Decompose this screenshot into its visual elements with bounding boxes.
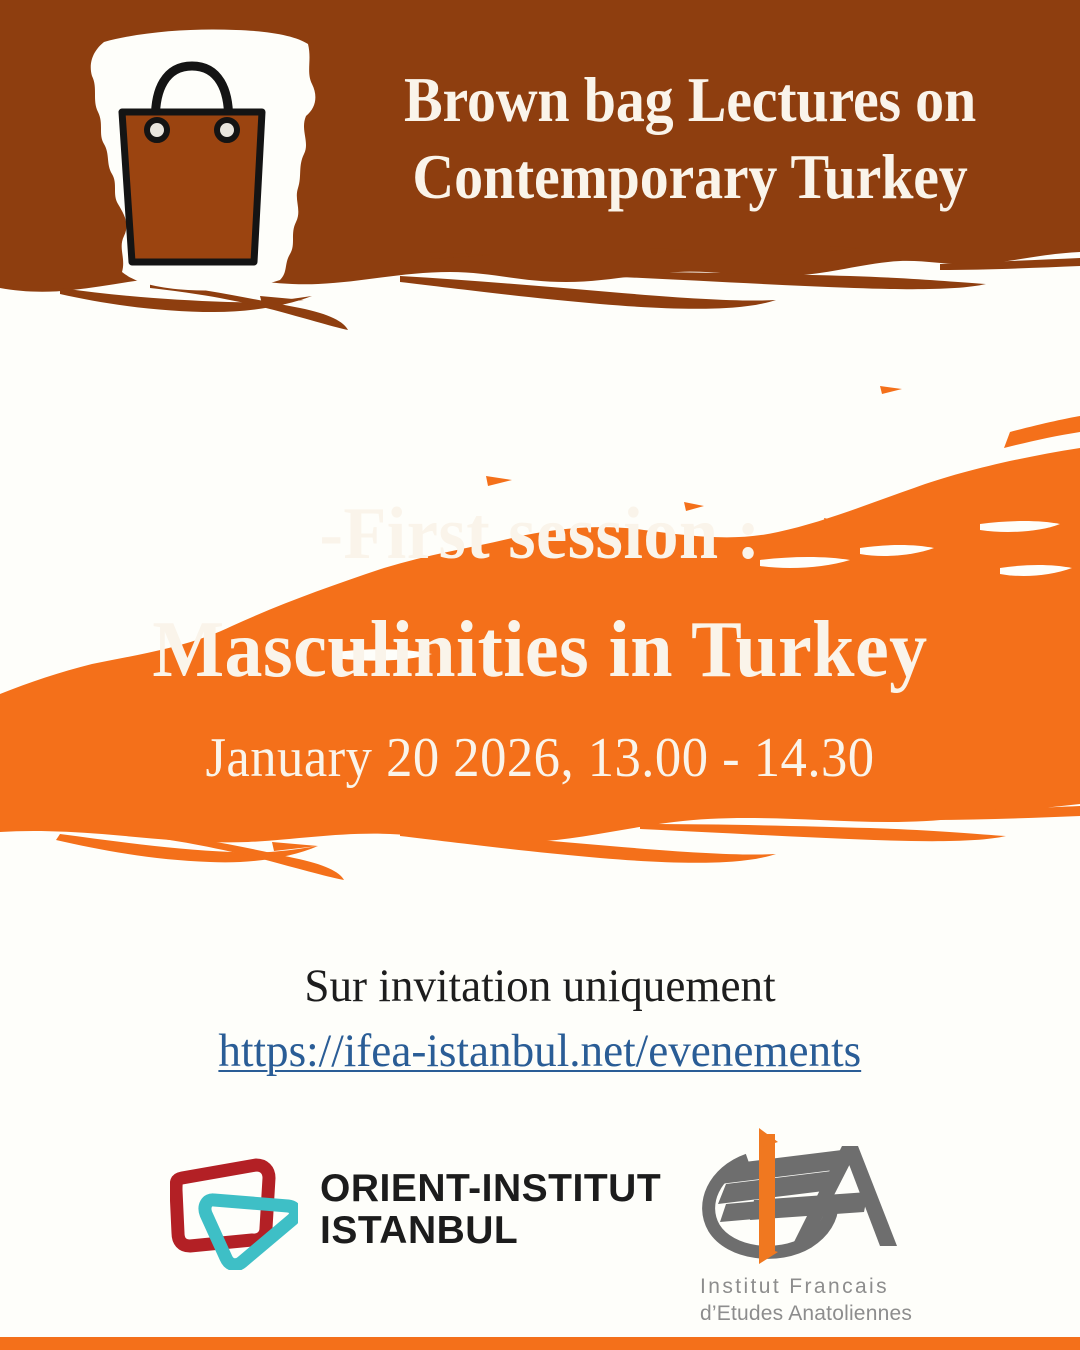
session-subject: Masculinities in Turkey [27, 602, 1053, 698]
session-heading: -First session : [27, 492, 1053, 576]
orient-institut-wordmark: ORIENT-INSTITUT ISTANBUL [320, 1168, 661, 1252]
bag-body [122, 112, 262, 262]
invitation-block: Sur invitation uniquement https://ifea-i… [0, 958, 1080, 1081]
session-datetime: January 20 2026, 13.00 - 14.30 [32, 726, 1047, 790]
orange-drip-tr1 [1004, 416, 1080, 448]
footer-accent-bar [0, 1337, 1080, 1350]
orange-speck-t2 [486, 476, 512, 486]
orient-institut-logo: ORIENT-INSTITUT ISTANBUL [170, 1150, 661, 1270]
logos-row: ORIENT-INSTITUT ISTANBUL [0, 1118, 1080, 1318]
orient-institut-mark-icon [170, 1150, 298, 1270]
ifea-caption-line-1: Institut Francais [700, 1273, 922, 1300]
invitation-note: Sur invitation uniquement [22, 958, 1059, 1015]
page-title: Brown bag Lectures on Contemporary Turke… [368, 62, 1012, 216]
orange-speck-t1 [880, 386, 902, 394]
ifea-logo: Institut Francais d’Etudes Anatoliennes [692, 1126, 922, 1328]
bag-eyelet-right [217, 120, 237, 140]
brown-paper-bag-icon [40, 24, 340, 314]
session-block: -First session : Masculinities in Turkey… [0, 492, 1080, 790]
ifea-caption-line-2: d’Etudes Anatoliennes [700, 1300, 922, 1327]
ifea-monogram-icon [692, 1126, 907, 1266]
event-poster: Brown bag Lectures on Contemporary Turke… [0, 0, 1080, 1350]
ifea-caption: Institut Francais d’Etudes Anatoliennes [700, 1273, 922, 1328]
registration-link[interactable]: https://ifea-istanbul.net/evenements [219, 1023, 862, 1080]
bag-eyelet-left [147, 120, 167, 140]
orange-streak-b4 [640, 824, 1006, 841]
